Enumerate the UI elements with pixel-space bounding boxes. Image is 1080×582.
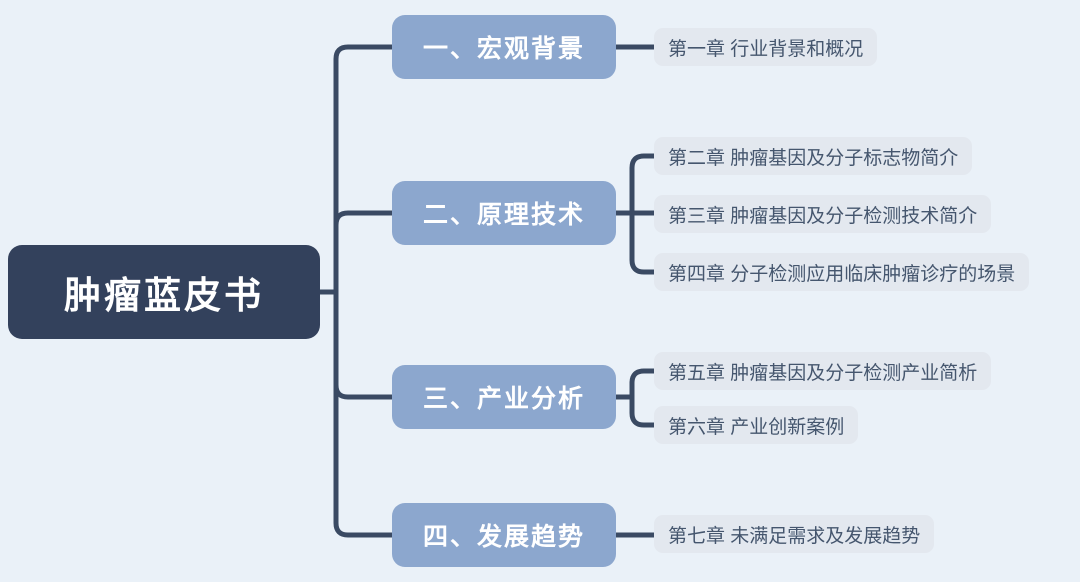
- branch-node-2[interactable]: 二、原理技术: [392, 181, 616, 245]
- mind-map-canvas: 肿瘤蓝皮书 一、宏观背景 二、原理技术 三、产业分析 四、发展趋势 第一章 行业…: [0, 0, 1080, 582]
- leaf-node-chapter-6-label: 第六章 产业创新案例: [668, 412, 844, 439]
- leaf-node-chapter-3[interactable]: 第三章 肿瘤基因及分子检测技术简介: [654, 195, 991, 233]
- branch-node-1[interactable]: 一、宏观背景: [392, 15, 616, 79]
- connector-branch-2-leaf-4: [632, 213, 654, 272]
- branch-node-1-label: 一、宏观背景: [423, 29, 585, 65]
- connector-branch-2-leaf-2: [632, 156, 654, 213]
- root-node-label: 肿瘤蓝皮书: [64, 265, 264, 319]
- leaf-node-chapter-1-label: 第一章 行业背景和概况: [668, 34, 863, 61]
- leaf-node-chapter-7-label: 第七章 未满足需求及发展趋势: [668, 521, 920, 548]
- branch-node-2-label: 二、原理技术: [423, 195, 585, 231]
- branch-node-4[interactable]: 四、发展趋势: [392, 503, 616, 567]
- root-node[interactable]: 肿瘤蓝皮书: [8, 245, 320, 339]
- leaf-node-chapter-1[interactable]: 第一章 行业背景和概况: [654, 28, 877, 66]
- leaf-node-chapter-3-label: 第三章 肿瘤基因及分子检测技术简介: [668, 201, 977, 228]
- leaf-node-chapter-5[interactable]: 第五章 肿瘤基因及分子检测产业简析: [654, 352, 991, 390]
- connector-branch-3-leaf-6: [632, 397, 654, 425]
- connector-trunk-branch-3: [336, 292, 392, 397]
- connector-trunk-branch-2: [336, 213, 392, 292]
- branch-node-4-label: 四、发展趋势: [423, 517, 585, 553]
- leaf-node-chapter-2-label: 第二章 肿瘤基因及分子标志物简介: [668, 143, 958, 170]
- leaf-node-chapter-6[interactable]: 第六章 产业创新案例: [654, 406, 858, 444]
- branch-node-3[interactable]: 三、产业分析: [392, 365, 616, 429]
- leaf-node-chapter-7[interactable]: 第七章 未满足需求及发展趋势: [654, 515, 934, 553]
- leaf-node-chapter-4-label: 第四章 分子检测应用临床肿瘤诊疗的场景: [668, 259, 1015, 286]
- connector-trunk-branch-1: [336, 47, 392, 292]
- branch-node-3-label: 三、产业分析: [423, 379, 585, 415]
- leaf-node-chapter-5-label: 第五章 肿瘤基因及分子检测产业简析: [668, 358, 977, 385]
- connector-trunk-branch-4: [336, 292, 392, 535]
- leaf-node-chapter-4[interactable]: 第四章 分子检测应用临床肿瘤诊疗的场景: [654, 253, 1029, 291]
- connector-branch-3-leaf-5: [632, 371, 654, 397]
- leaf-node-chapter-2[interactable]: 第二章 肿瘤基因及分子标志物简介: [654, 137, 972, 175]
